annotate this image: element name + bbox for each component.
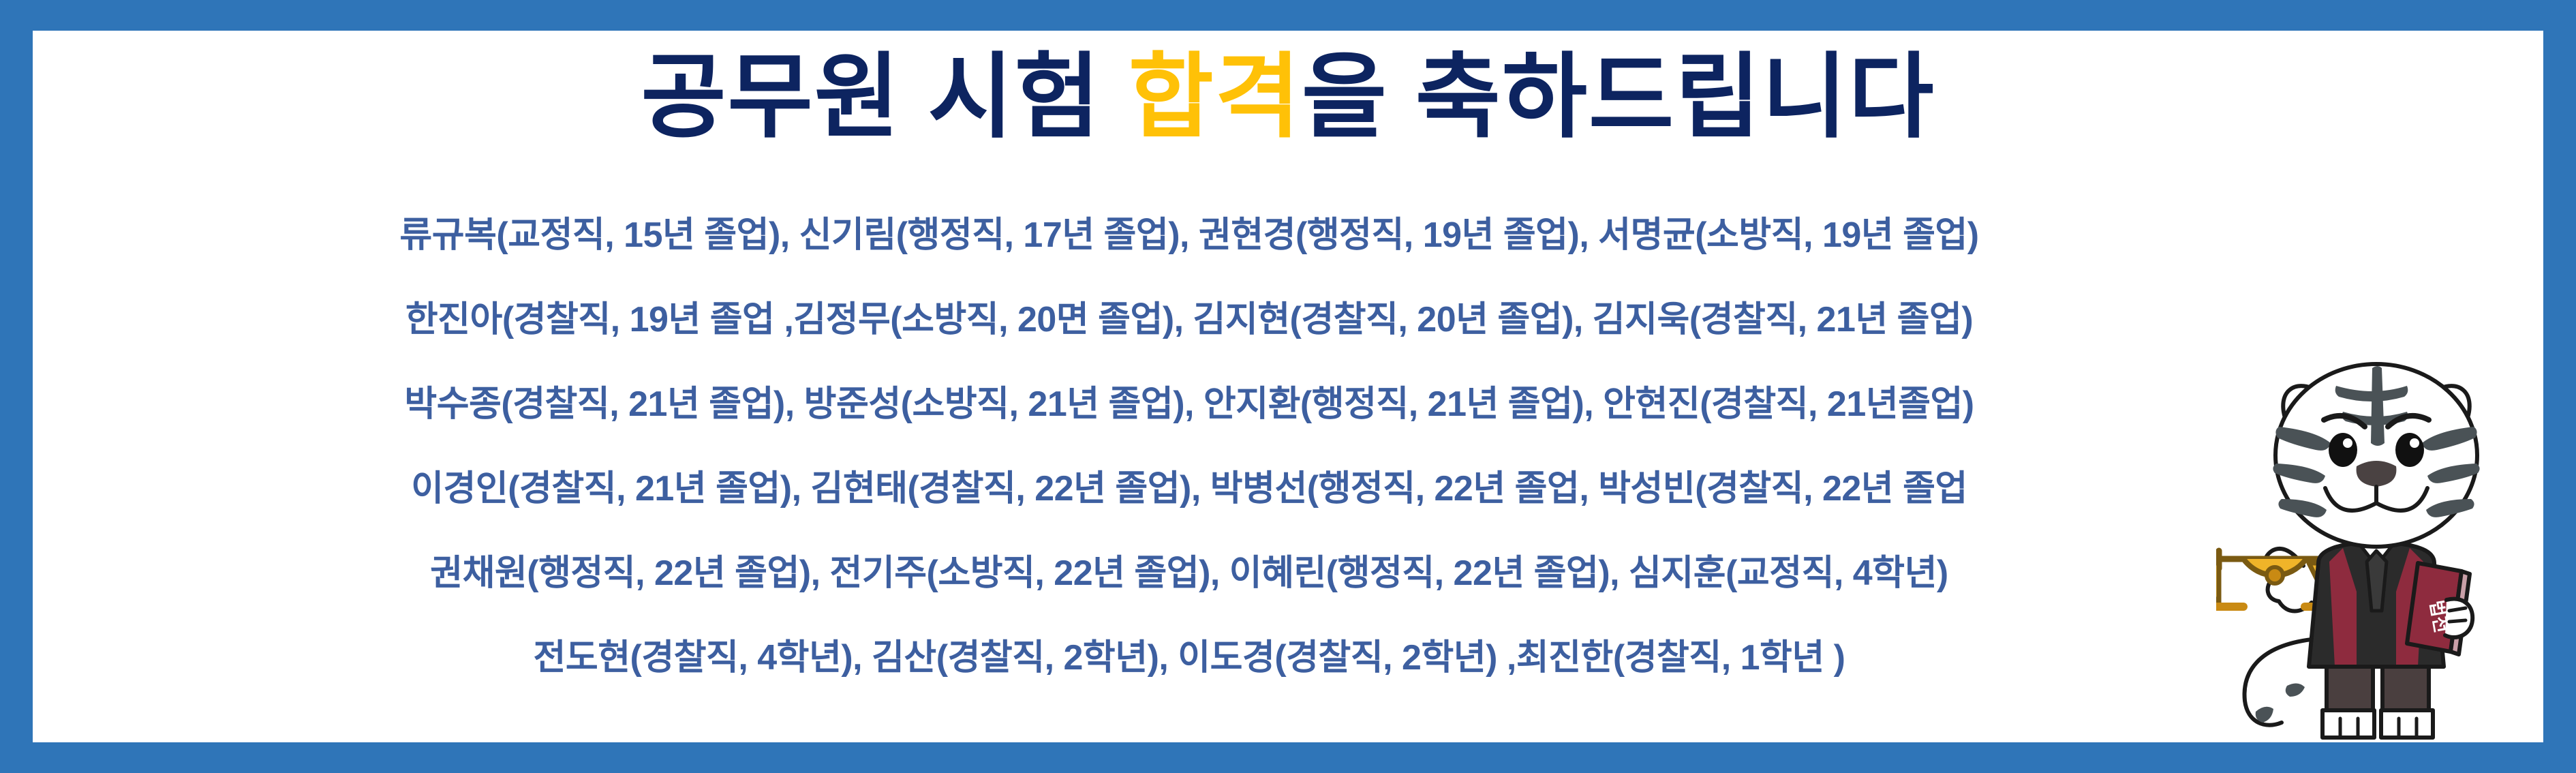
judge-tiger-mascot-icon: 법전 [2216, 346, 2536, 742]
page-title: 공무원 시험 합격을 축하드립니다 [33, 39, 2543, 155]
title-part-2: 을 축하드립니다 [1302, 45, 1935, 149]
title-part-1: 공무원 시험 [641, 45, 1128, 149]
name-list-row: 권채원(행정직, 22년 졸업), 전기주(소방직, 22년 졸업), 이혜린(… [60, 531, 2318, 616]
graduate-name-list: 류규복(교정직, 15년 졸업), 신기림(행정직, 17년 졸업), 권현경(… [33, 193, 2543, 700]
name-list-row: 전도현(경찰직, 4학년), 김산(경찰직, 2학년), 이도경(경찰직, 2학… [60, 616, 2318, 700]
title-highlight-pass: 합격 [1129, 45, 1302, 149]
banner-canvas: 공무원 시험 합격을 축하드립니다 류규복(교정직, 15년 졸업), 신기림(… [33, 31, 2543, 742]
name-list-row: 박수종(경찰직, 21년 졸업), 방준성(소방직, 21년 졸업), 안지환(… [60, 362, 2318, 446]
name-list-row: 이경인(경찰직, 21년 졸업), 김현태(경찰직, 22년 졸업), 박병선(… [60, 446, 2318, 531]
name-list-row: 한진아(경찰직, 19년 졸업 ,김정무(소방직, 20면 졸업), 김지현(경… [60, 277, 2318, 362]
banner-frame: 공무원 시험 합격을 축하드립니다 류규복(교정직, 15년 졸업), 신기림(… [0, 0, 2576, 773]
name-list-row: 류규복(교정직, 15년 졸업), 신기림(행정직, 17년 졸업), 권현경(… [60, 193, 2318, 277]
